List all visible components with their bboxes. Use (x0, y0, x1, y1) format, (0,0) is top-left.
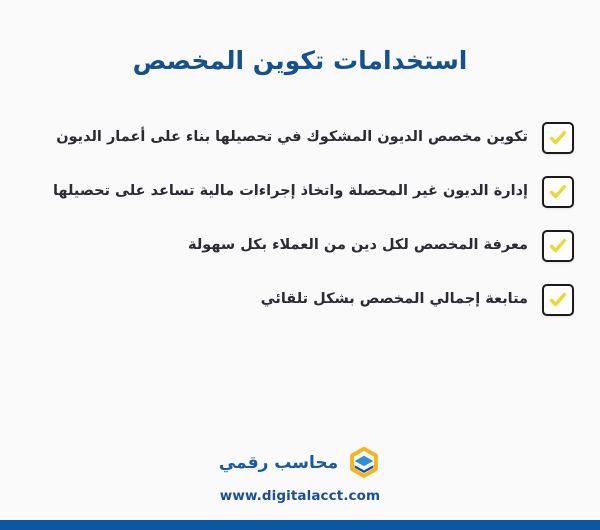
brand-url[interactable]: www.digitalacct.com (220, 488, 380, 504)
page-title: استخدامات تكوين المخصص (0, 44, 600, 78)
brand-name: محاسب رقمي (219, 455, 338, 472)
list-item-label: تكوين مخصص الديون المشكوك في تحصيلها بنا… (26, 127, 528, 149)
list-item-label: متابعة إجمالي المخصص بشكل تلقائي (26, 289, 528, 311)
checkbox-checked-icon[interactable] (542, 284, 574, 316)
checkbox-checked-icon[interactable] (542, 230, 574, 262)
brand-row: محاسب رقمي (219, 446, 381, 480)
list-item: متابعة إجمالي المخصص بشكل تلقائي (26, 284, 574, 316)
list-item: معرفة المخصص لكل دين من العملاء بكل سهول… (26, 230, 574, 262)
list-item-label: معرفة المخصص لكل دين من العملاء بكل سهول… (26, 235, 528, 257)
checkbox-checked-icon[interactable] (542, 122, 574, 154)
brand-footer: محاسب رقمي www.digitalacct.com (0, 446, 600, 530)
brand-logo-icon (347, 446, 381, 480)
infographic-card: استخدامات تكوين المخصص تكوين مخصص الديون… (0, 0, 600, 530)
title-area: استخدامات تكوين المخصص (0, 0, 600, 78)
list-item: تكوين مخصص الديون المشكوك في تحصيلها بنا… (26, 122, 574, 154)
bottom-accent-bar (0, 520, 600, 530)
checkbox-checked-icon[interactable] (542, 176, 574, 208)
list-item-label: إدارة الديون غير المحصلة واتخاذ إجراءات … (26, 181, 528, 203)
list-item: إدارة الديون غير المحصلة واتخاذ إجراءات … (26, 176, 574, 208)
layout-spacer (0, 316, 600, 446)
benefits-list: تكوين مخصص الديون المشكوك في تحصيلها بنا… (0, 122, 600, 316)
